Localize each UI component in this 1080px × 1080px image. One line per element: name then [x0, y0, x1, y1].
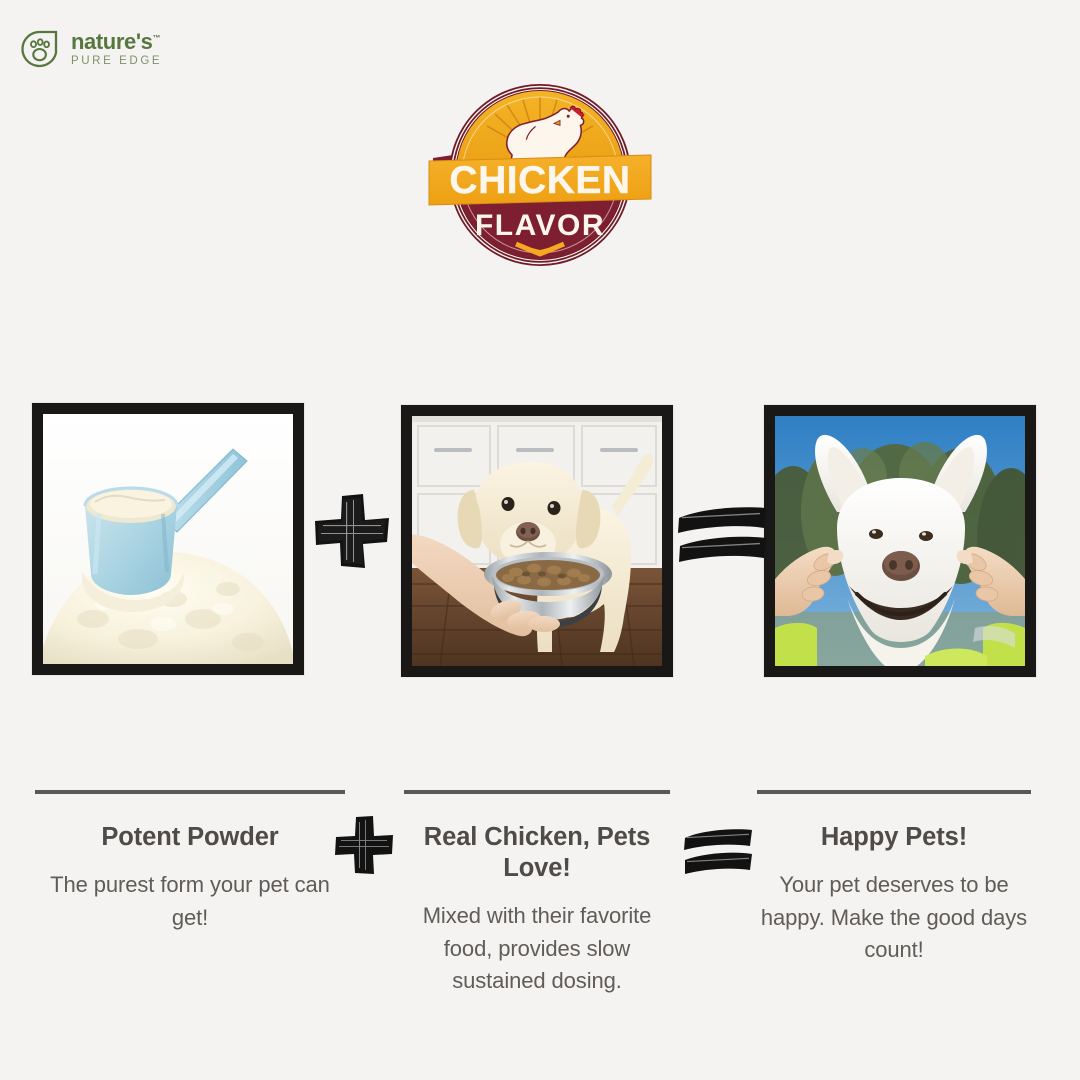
benefit-column-chicken: Real Chicken, Pets Love! Mixed with thei… — [404, 790, 670, 998]
column-heading: Real Chicken, Pets Love! — [404, 822, 670, 884]
column-body-text: Your pet deserves to be happy. Make the … — [757, 869, 1031, 967]
brand-name-text: nature's — [71, 29, 153, 54]
plus-operator-icon — [313, 492, 391, 570]
paw-in-leaf-icon — [16, 26, 62, 72]
equals-operator-icon — [676, 504, 768, 566]
badge-lower-text: FLAVOR — [475, 209, 605, 242]
badge-banner-text: CHICKEN — [449, 159, 630, 202]
plus-operator-icon — [333, 814, 395, 876]
column-divider-rule — [757, 790, 1031, 794]
equals-operator-icon — [682, 827, 754, 877]
brand-name: nature's™ — [71, 31, 162, 53]
happy-dog-photo — [764, 405, 1036, 677]
benefit-column-powder: Potent Powder The purest form your pet c… — [35, 790, 345, 934]
chicken-flavor-badge: FLAVOR CHICKEN — [415, 78, 665, 274]
column-divider-rule — [35, 790, 345, 794]
brand-logo: nature's™ PURE EDGE — [16, 26, 162, 72]
column-heading: Happy Pets! — [757, 822, 1031, 853]
benefit-columns: Potent Powder The purest form your pet c… — [0, 790, 1080, 1020]
brand-tagline: PURE EDGE — [71, 56, 162, 68]
photo-row — [0, 403, 1080, 681]
trademark-symbol: ™ — [153, 33, 161, 42]
badge-banner: CHICKEN — [429, 155, 651, 205]
powder-scoop-photo — [32, 403, 304, 675]
column-body-text: The purest form your pet can get! — [35, 869, 345, 934]
column-body-text: Mixed with their favorite food, provides… — [404, 900, 670, 998]
benefit-column-happy: Happy Pets! Your pet deserves to be happ… — [757, 790, 1031, 967]
column-heading: Potent Powder — [35, 822, 345, 853]
column-divider-rule — [404, 790, 670, 794]
dog-eating-bowl-photo — [401, 405, 673, 677]
infographic-canvas: nature's™ PURE EDGE — [0, 0, 1080, 1080]
